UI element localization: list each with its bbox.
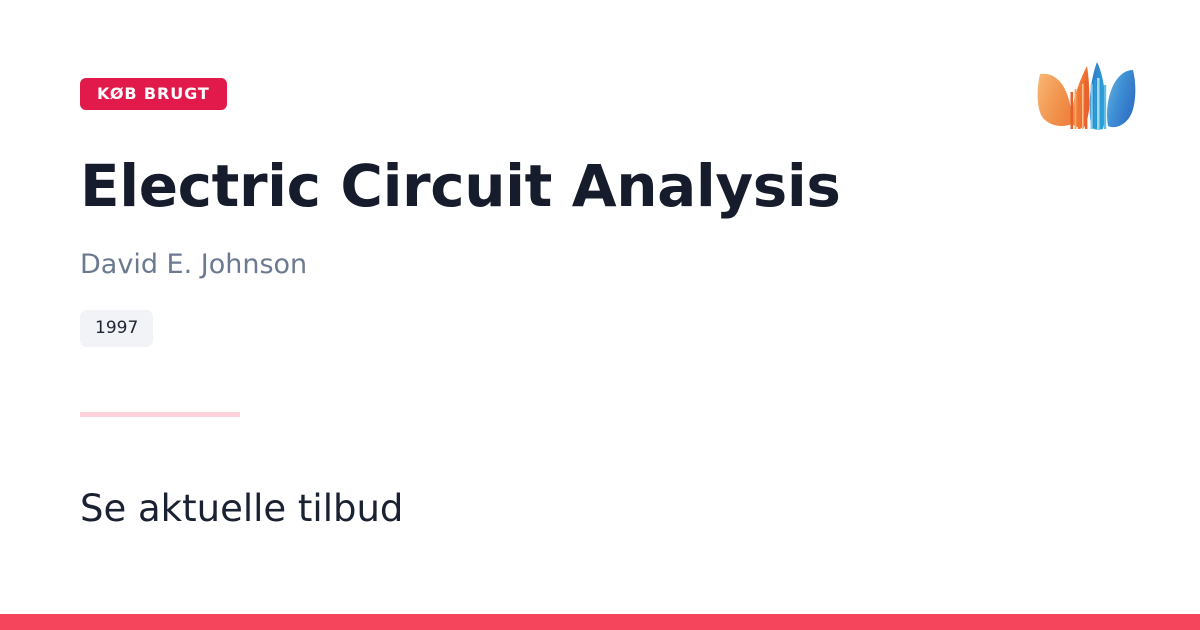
book-author: David E. Johnson [80,247,307,282]
page-title: Electric Circuit Analysis [80,155,980,219]
butterfly-book-logo [1032,52,1144,157]
bottom-accent-bar [0,614,1200,630]
book-promo-card: KØB BRUGT Electric Circuit Analysis Davi… [0,0,1200,630]
status-badge: KØB BRUGT [80,78,227,110]
cta-label: Se aktuelle tilbud [80,487,403,531]
publication-year-chip: 1997 [80,310,153,347]
divider [80,412,240,417]
